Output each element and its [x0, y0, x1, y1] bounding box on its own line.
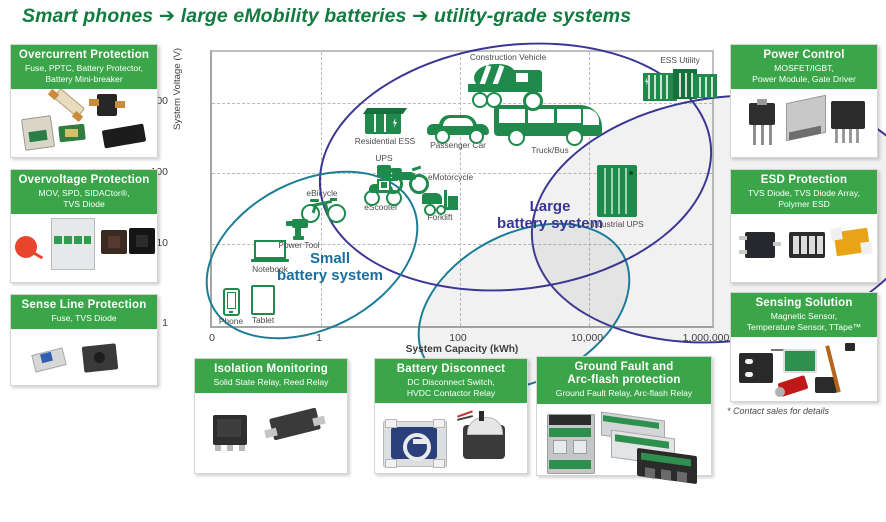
card-header: Isolation Monitoring Solid State Relay, …: [195, 359, 347, 393]
card-image: [375, 403, 527, 517]
chart-item-label: Notebook: [240, 264, 300, 274]
ess-utility-icon: [643, 65, 717, 101]
chart-item-ess-utility: ESS Utility: [640, 55, 720, 101]
chart-item-label: Industrial UPS: [576, 219, 658, 229]
card-title: Isolation Monitoring: [198, 363, 344, 376]
card-subtitle: DC Disconnect Switch, HVDC Contactor Rel…: [378, 377, 524, 398]
residential-ess-icon: [363, 108, 407, 136]
x-tick-0: 0: [209, 332, 215, 344]
page-title: Smart phones ➔ large eMobility batteries…: [22, 4, 742, 32]
chart-item-tablet: Tablet: [241, 285, 285, 325]
chart-item-ebicycle: eBicycle: [291, 188, 353, 220]
title-part-2: large eMobility batteries: [181, 5, 407, 27]
card-overvoltage-protection[interactable]: Overvoltage Protection MOV, SPD, SIDACto…: [10, 169, 158, 283]
chart-item-label: Tablet: [241, 315, 285, 325]
ups-icon: [373, 163, 395, 193]
x-tick-1000000: 1,000,000: [683, 332, 730, 344]
card-title: Sense Line Protection: [14, 299, 154, 312]
card-subtitle: TVS Diode, TVS Diode Array, Polymer ESD: [734, 188, 874, 209]
chart-item-label: Passenger Car: [418, 140, 498, 150]
card-image: [195, 393, 347, 507]
chart-item-label: ESS Utility: [640, 55, 720, 65]
card-header: Overvoltage Protection MOV, SPD, SIDACto…: [11, 170, 157, 214]
arrow-icon-2: ➔: [412, 5, 428, 27]
chart-item-label: Residential ESS: [347, 136, 423, 146]
industrial-ups-icon: [594, 165, 640, 219]
card-ground-fault-arc-flash[interactable]: Ground Fault and Arc-flash protection Gr…: [536, 356, 712, 476]
chart-item-passenger-car: Passenger Car: [418, 112, 498, 150]
x-tick-100: 100: [449, 332, 467, 344]
chart-item-label: eBicycle: [291, 188, 353, 198]
card-title: Overvoltage Protection: [14, 174, 154, 187]
card-title: Battery Disconnect: [378, 363, 524, 376]
card-header: Power Control MOSFET/IGBT, Power Module,…: [731, 45, 877, 89]
footnote: * Contact sales for details: [727, 406, 829, 416]
chart-item-label: Construction Vehicle: [443, 52, 573, 62]
chart-item-industrial-ups: Industrial UPS: [576, 165, 658, 229]
card-battery-disconnect[interactable]: Battery Disconnect DC Disconnect Switch,…: [374, 358, 528, 474]
card-esd-protection[interactable]: ESD Protection TVS Diode, TVS Diode Arra…: [730, 169, 878, 283]
chart-item-power-tool: Power Tool: [270, 218, 328, 250]
card-header: Battery Disconnect DC Disconnect Switch,…: [375, 359, 527, 403]
x-axis-label: System Capacity (kWh): [210, 344, 714, 355]
card-image: [731, 337, 877, 445]
card-header: Overcurrent Protection Fuse, PPTC, Batte…: [11, 45, 157, 89]
chart-item-ups: UPS: [362, 153, 406, 193]
chart-item-residential-ess: Residential ESS: [347, 108, 423, 146]
tablet-icon: [251, 285, 275, 315]
card-overcurrent-protection[interactable]: Overcurrent Protection Fuse, PPTC, Batte…: [10, 44, 158, 158]
chart-item-label: Truck/Bus: [490, 145, 610, 155]
forklift-icon: [420, 188, 460, 212]
title-part-3: utility-grade systems: [434, 5, 631, 27]
truck-bus-icon: [494, 105, 606, 145]
card-header: Sensing Solution Magnetic Sensor, Temper…: [731, 293, 877, 337]
construction-vehicle-icon: [468, 62, 548, 106]
card-header: ESD Protection TVS Diode, TVS Diode Arra…: [731, 170, 877, 214]
card-sensing-solution[interactable]: Sensing Solution Magnetic Sensor, Temper…: [730, 292, 878, 402]
card-subtitle: MOSFET/IGBT, Power Module, Gate Driver: [734, 63, 874, 84]
card-power-control[interactable]: Power Control MOSFET/IGBT, Power Module,…: [730, 44, 878, 158]
card-subtitle: Magnetic Sensor, Temperature Sensor, TTa…: [734, 311, 874, 332]
chart-item-label: eScooter: [350, 202, 412, 212]
card-header: Sense Line Protection Fuse, TVS Diode: [11, 295, 157, 329]
x-tick-1: 1: [316, 332, 322, 344]
card-subtitle: Ground Fault Relay, Arc-flash Relay: [540, 388, 708, 399]
chart-item-construction-vehicle: Construction Vehicle: [443, 52, 573, 106]
chart-item-label: UPS: [362, 153, 406, 163]
card-image: [11, 329, 157, 419]
card-title: Ground Fault and Arc-flash protection: [540, 361, 708, 387]
card-title: Power Control: [734, 49, 874, 62]
ebicycle-icon: [300, 198, 344, 220]
phone-icon: [223, 288, 240, 316]
y-axis-label: System Voltage (V): [172, 48, 183, 130]
card-title: Sensing Solution: [734, 297, 874, 310]
card-subtitle: MOV, SPD, SIDACtor®, TVS Diode: [14, 188, 154, 209]
card-sense-line-protection[interactable]: Sense Line Protection Fuse, TVS Diode: [10, 294, 158, 386]
card-header: Ground Fault and Arc-flash protection Gr…: [537, 357, 711, 404]
card-subtitle: Solid State Relay, Reed Relay: [198, 377, 344, 388]
card-subtitle: Fuse, PPTC, Battery Protector, Battery M…: [14, 63, 154, 84]
card-image: [537, 404, 711, 522]
card-title: Overcurrent Protection: [14, 49, 154, 62]
chart-item-label: Power Tool: [270, 240, 328, 250]
card-title: ESD Protection: [734, 174, 874, 187]
card-subtitle: Fuse, TVS Diode: [14, 313, 154, 324]
title-part-1: Smart phones: [22, 5, 153, 27]
x-tick-10000: 10,000: [571, 332, 603, 344]
passenger-car-icon: [427, 112, 489, 140]
chart-item-label: eMotorcycle: [428, 172, 473, 182]
chart-item-truck-bus: Truck/Bus: [490, 105, 610, 155]
card-isolation-monitoring[interactable]: Isolation Monitoring Solid State Relay, …: [194, 358, 348, 474]
arrow-icon-1: ➔: [159, 5, 175, 27]
